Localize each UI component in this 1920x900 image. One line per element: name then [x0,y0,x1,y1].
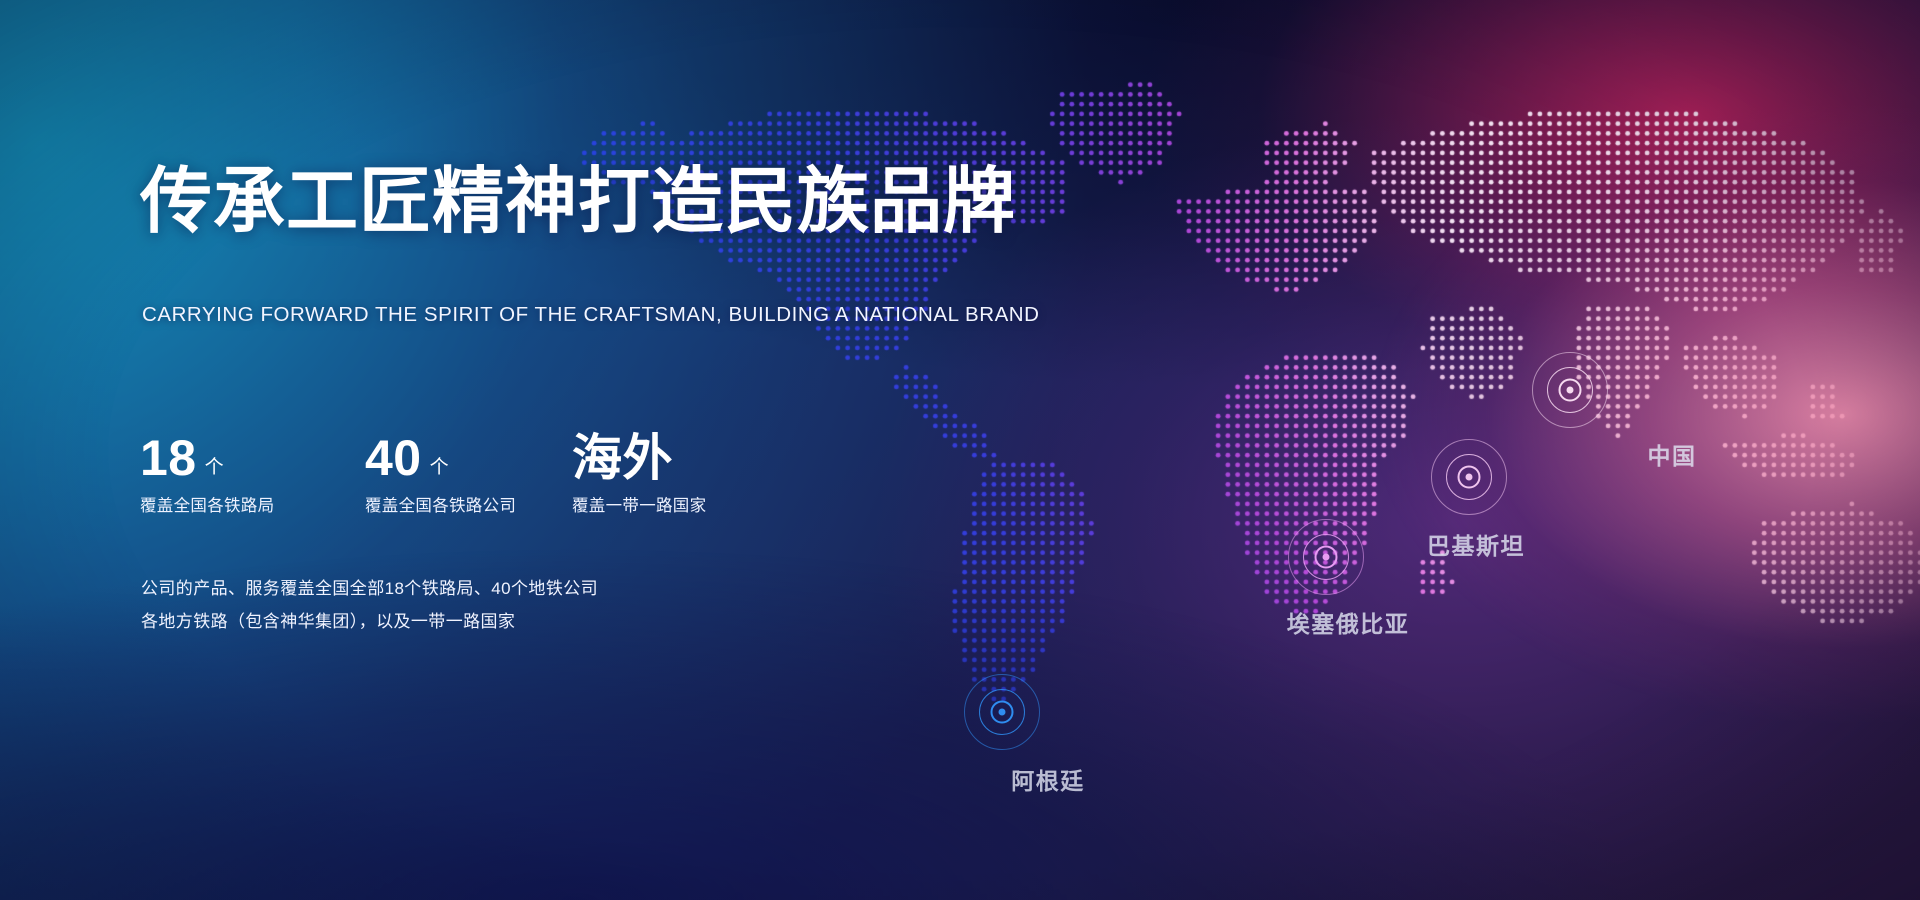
stat-unit: 个 [205,458,224,477]
stat-value-group: 18 个 [140,425,274,483]
map-label-china: 中国 [1648,437,1697,471]
stat-item-railway-bureaus: 18 个 覆盖全国各铁路局 [140,425,274,516]
marker-core-dot [1567,387,1574,394]
description-line-1: 公司的产品、服务覆盖全国全部18个铁路局、40个地铁公司 [141,572,598,605]
page-title: 传承工匠精神打造民族品牌 [140,163,1016,241]
map-label-ethiopia: 埃塞俄比亚 [1287,605,1410,639]
stat-description: 覆盖全国各铁路局 [140,496,274,516]
stats-row: 18 个 覆盖全国各铁路局 40 个 覆盖全国各铁路公司 海外 覆盖一带一路国家 [140,425,860,535]
map-label-pakistan: 巴基斯坦 [1427,527,1525,561]
hero-banner: 中国巴基斯坦埃塞俄比亚阿根廷 传承工匠精神打造民族品牌 CARRYING FOR… [0,0,1920,900]
stat-number: 18 [140,433,197,483]
stat-value-group: 海外 [572,425,706,483]
stat-description: 覆盖一带一路国家 [572,496,706,516]
marker-core-dot [1466,474,1473,481]
hero-content: 传承工匠精神打造民族品牌 CARRYING FORWARD THE SPIRIT… [140,0,1120,900]
stat-item-railway-companies: 40 个 覆盖全国各铁路公司 [365,425,516,516]
stat-number: 40 [365,433,422,483]
marker-core-dot [1323,554,1330,561]
stat-value-group: 40 个 [365,425,516,483]
stat-unit: 个 [430,458,449,477]
stat-item-overseas: 海外 覆盖一带一路国家 [572,425,706,516]
description-line-2: 各地方铁路（包含神华集团），以及一带一路国家 [141,605,598,638]
page-subtitle: CARRYING FORWARD THE SPIRIT OF THE CRAFT… [142,303,1040,327]
stat-number: 海外 [572,433,673,483]
description-paragraph: 公司的产品、服务覆盖全国全部18个铁路局、40个地铁公司 各地方铁路（包含神华集… [141,572,598,638]
stat-description: 覆盖全国各铁路公司 [365,496,516,516]
